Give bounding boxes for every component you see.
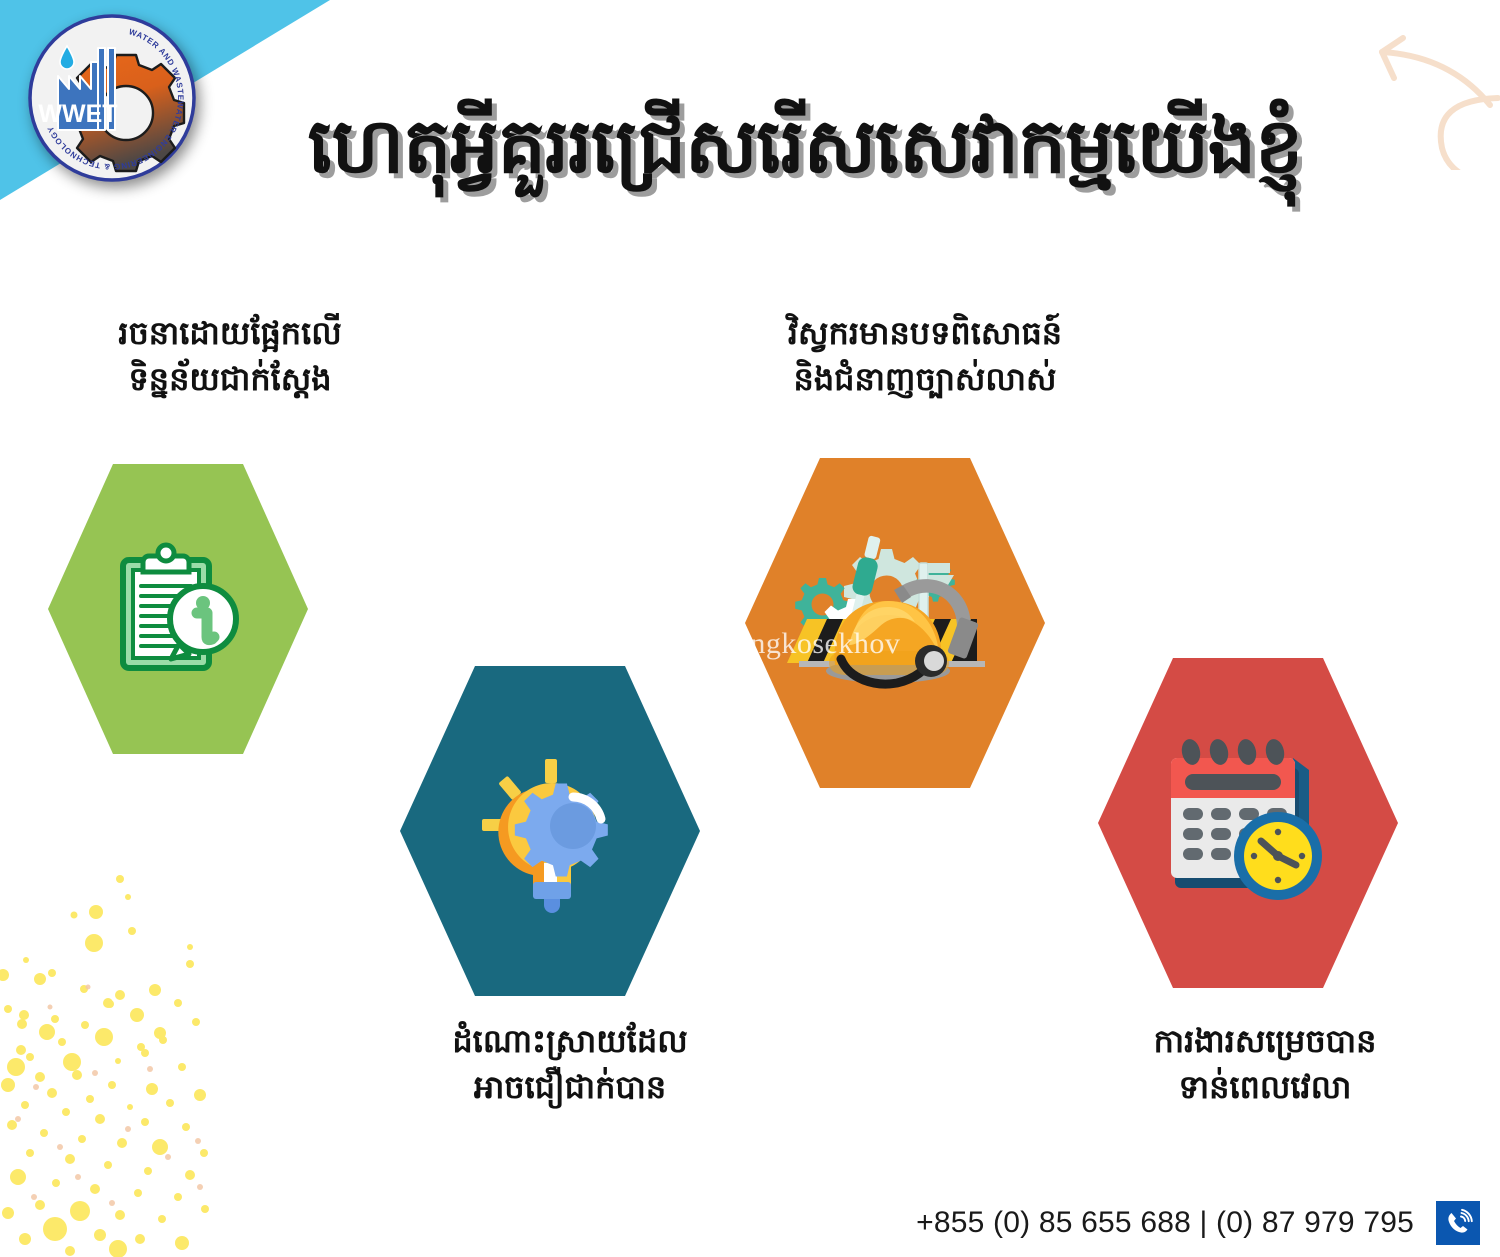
hexagon-card-reliable-solutions (400, 666, 700, 996)
caption-line-1: វិស្វករមានបទពិសោធន៍ (700, 310, 1150, 356)
page-title: ហេតុអ្វីគួររជ្រើសរើសសេវាកម្មយើងខ្ញុំ (0, 98, 1500, 193)
caption-line-1: ដំណោះស្រាយដែល (360, 1018, 780, 1064)
hexagon-card-data-driven-design (48, 464, 308, 754)
company-logo: WWET WATER AND WASTEWATER ENGINEERING & … (28, 14, 196, 182)
caption-line-2: ទិន្នន័យជាក់ស្តែង (30, 356, 430, 402)
caption-line-2: ទាន់ពេលវេលា (1065, 1064, 1465, 1110)
safety-helmet-tools-icon (785, 523, 1005, 723)
card-caption-data-driven-design: រចនាដោយផ្អែកលើ ទិន្នន័យជាក់ស្តែង (30, 310, 430, 403)
footer-bar: +855 (0) 85 655 688 | (0) 87 979 795 (0, 1189, 1500, 1257)
card-caption-on-time-delivery: ការងារសម្រេចបាន ទាន់ពេលវេលា (1065, 1018, 1465, 1111)
phone-call-icon[interactable] (1436, 1201, 1480, 1245)
hexagon-card-experienced-engineers (745, 458, 1045, 788)
caption-line-1: ការងារសម្រេចបាន (1065, 1018, 1465, 1064)
wwet-logo-icon: WWET WATER AND WASTEWATER ENGINEERING & … (28, 14, 196, 182)
hexagon-card-on-time-delivery (1098, 658, 1398, 988)
clipboard-info-icon (103, 534, 253, 684)
caption-line-2: និងជំនាញច្បាស់លាស់ (700, 356, 1150, 402)
logo-abbr-text: WWET (38, 100, 117, 128)
card-caption-experienced-engineers: វិស្វករមានបទពិសោធន៍ និងជំនាញច្បាស់លាស់ (700, 310, 1150, 403)
calendar-clock-icon (1153, 728, 1343, 918)
phone-handset-icon (1442, 1207, 1474, 1239)
caption-line-2: អាចជឿជាក់បាន (360, 1064, 780, 1110)
lightbulb-gear-icon (460, 741, 640, 921)
footer-phone-numbers: +855 (0) 85 655 688 | (0) 87 979 795 (916, 1206, 1414, 1240)
caption-line-1: រចនាដោយផ្អែកលើ (30, 310, 430, 356)
poster-canvas: WWET WATER AND WASTEWATER ENGINEERING & … (0, 0, 1500, 1257)
card-caption-reliable-solutions: ដំណោះស្រាយដែល អាចជឿជាក់បាន (360, 1018, 780, 1111)
